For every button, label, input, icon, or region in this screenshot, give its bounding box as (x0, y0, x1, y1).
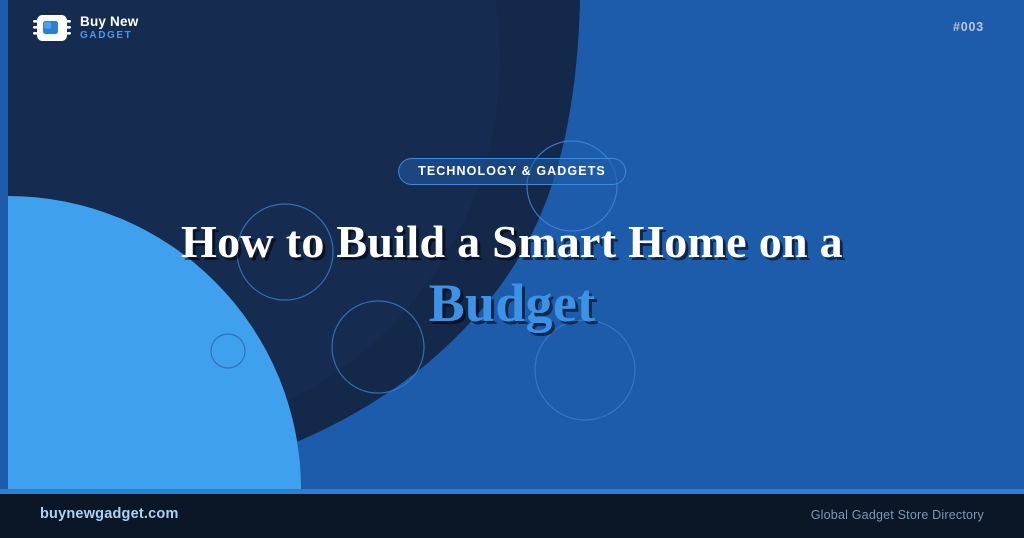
brand-logo[interactable]: Buy New GADGET (33, 13, 138, 43)
footer-website[interactable]: buynewgadget.com (40, 506, 179, 522)
article-banner: Buy New GADGET #003 TECHNOLOGY & GADGETS… (0, 0, 1024, 538)
page-title: How to Build a Smart Home on a Budget (0, 216, 1024, 336)
headline-line-1: How to Build a Smart Home on a (0, 216, 1024, 269)
chip-icon (33, 13, 71, 43)
headline-line-2: Budget (0, 271, 1024, 336)
issue-number: #003 (953, 20, 984, 34)
brand-name: Buy New (80, 15, 138, 29)
footer-tagline: Global Gadget Store Directory (811, 508, 984, 522)
category-badge[interactable]: TECHNOLOGY & GADGETS (398, 158, 626, 185)
brand-subtitle: GADGET (80, 31, 138, 41)
footer-accent-line (0, 489, 1024, 494)
